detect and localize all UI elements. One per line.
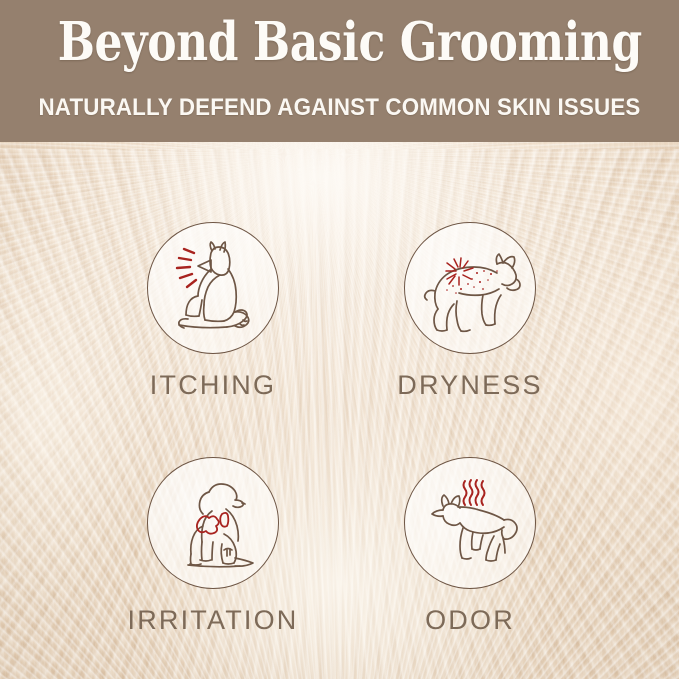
itching-icon-circle bbox=[147, 222, 279, 354]
symptom-label: DRYNESS bbox=[350, 370, 590, 401]
page-title: Beyond Basic Grooming bbox=[58, 16, 622, 69]
dog-scratching-icon bbox=[154, 229, 272, 347]
dryness-icon-circle bbox=[404, 222, 536, 354]
dry-flake-specks bbox=[446, 270, 498, 294]
dog-irritated-patches-icon bbox=[154, 464, 272, 582]
symptom-label: IRRITATION bbox=[93, 605, 333, 636]
symptom-item-irritation: IRRITATION bbox=[93, 457, 333, 636]
symptom-label: ODOR bbox=[350, 605, 590, 636]
itch-lines bbox=[177, 249, 196, 287]
dry-flake-marks bbox=[446, 258, 473, 285]
odor-wave-lines bbox=[464, 480, 485, 505]
page-subtitle: NATURALLY DEFEND AGAINST COMMON SKIN ISS… bbox=[24, 94, 655, 122]
symptom-label: ITCHING bbox=[93, 370, 333, 401]
dog-dry-flaky-skin-icon bbox=[411, 229, 529, 347]
symptom-grid: ITCHING bbox=[0, 142, 679, 679]
irritation-icon-circle bbox=[147, 457, 279, 589]
promo-banner: Beyond Basic Grooming NATURALLY DEFEND A… bbox=[0, 0, 679, 679]
dog-odor-icon bbox=[411, 464, 529, 582]
symptom-item-odor: ODOR bbox=[350, 457, 590, 636]
header-band: Beyond Basic Grooming NATURALLY DEFEND A… bbox=[0, 0, 679, 142]
symptom-item-itching: ITCHING bbox=[93, 222, 333, 401]
odor-icon-circle bbox=[404, 457, 536, 589]
symptom-item-dryness: DRYNESS bbox=[350, 222, 590, 401]
